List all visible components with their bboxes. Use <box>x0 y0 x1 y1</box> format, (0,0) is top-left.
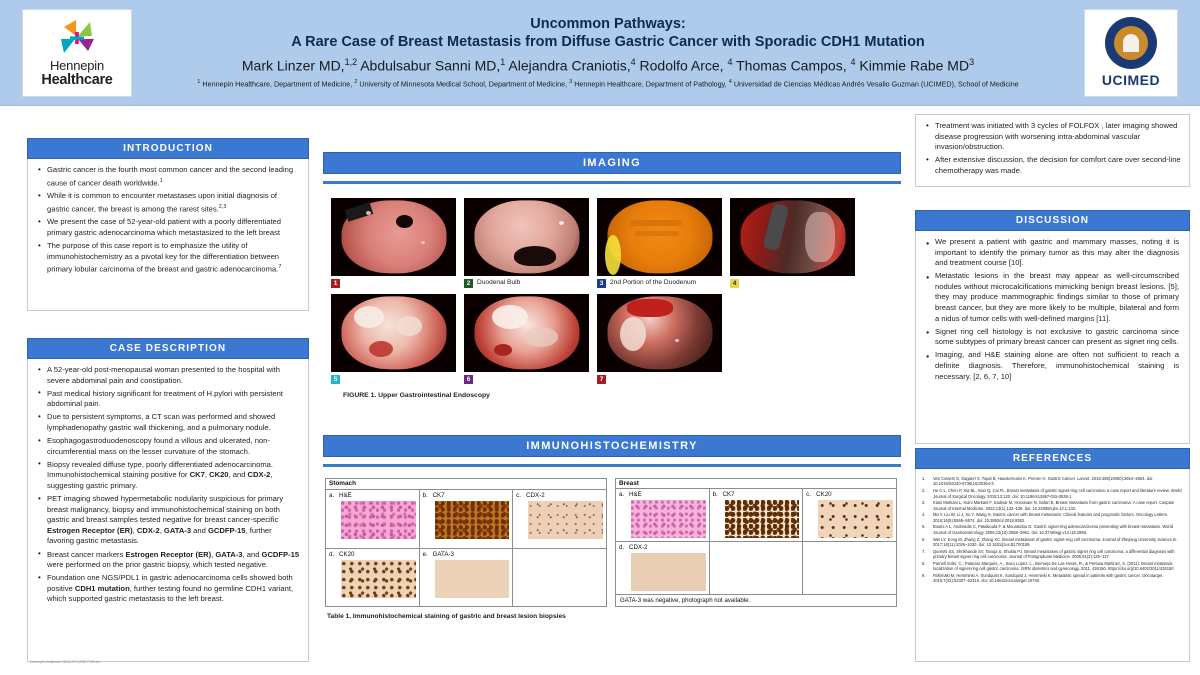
list-item: Metastatic lesions in the breast may app… <box>924 271 1181 324</box>
breast-header: Breast <box>616 479 897 489</box>
table-row: GATA-3 was negative, photograph not avai… <box>616 595 897 607</box>
discussion-panel: DISCUSSION We present a patient with gas… <box>915 210 1190 444</box>
list-item: PET imaging showed hypermetabolic nodula… <box>36 494 300 547</box>
ihc-title: IMMUNOHISTOCHEMISTRY <box>323 435 901 457</box>
panel-number-badge: 7 <box>597 375 606 384</box>
endoscopy-image-2 <box>464 198 589 276</box>
ihc-cell-stomach-empty <box>513 548 607 607</box>
author-list: Mark Linzer MD,1,2 Abdulsabur Sanni MD,1… <box>142 52 1074 76</box>
list-item: A 52-year-old post-menopausal woman pres… <box>36 365 300 386</box>
list-item: The purpose of this case report is to em… <box>36 241 300 275</box>
breast-ihc-table: Breast a.H&E b.CK7 c.CK20 <box>615 478 897 607</box>
list-item: Esophagogastroduodenoscopy found a villo… <box>36 436 300 457</box>
list-item: Qureshi SS, Shrikhande SV, Tanuja S, Shu… <box>920 549 1183 560</box>
ihc-tables: Stomach a.H&E b.CK7 c.CDX-2 <box>325 478 899 607</box>
ihc-cell-breast-ck20: c.CK20 <box>803 489 897 542</box>
affiliations: 1 Hennepin Healthcare, Department of Med… <box>142 78 1074 89</box>
imaging-title: IMAGING <box>323 152 901 174</box>
micrograph-he <box>631 500 706 538</box>
panel-number-badge: 5 <box>331 375 340 384</box>
endoscopy-caption-3: 3 2nd Portion of the Duodenum <box>597 279 730 288</box>
list-item: Due to persistent symptoms, a CT scan wa… <box>36 412 300 433</box>
references-title: REFERENCES <box>915 448 1190 469</box>
list-item: Ma Y, Liu W, Li J, Xu Y, Wang H. Gastric… <box>920 512 1183 523</box>
ihc-cell-stomach-cdx2: c.CDX-2 <box>513 490 607 548</box>
list-item: While it is common to encounter metastas… <box>36 191 300 215</box>
table-row: a.H&E b.CK7 c.CDX-2 <box>326 490 607 548</box>
ucimed-seal-icon <box>1105 17 1157 69</box>
list-item: We present the case of 52-year-old patie… <box>36 217 300 238</box>
panel-number-badge: 2 <box>464 279 473 288</box>
treatment-body: Treatment was initiated with 3 cycles of… <box>915 114 1190 187</box>
micrograph-cdx2 <box>631 553 706 591</box>
introduction-body: Gastric cancer is the fourth most common… <box>27 159 309 311</box>
panel-number-badge: 3 <box>597 279 606 288</box>
poster-header: Hennepin Healthcare Uncommon Pathways: A… <box>0 0 1200 106</box>
micrograph-he <box>341 501 416 539</box>
list-item: Kiani Markani L, Kiani Markani F, Kadiva… <box>920 500 1183 511</box>
poster-title-block: Uncommon Pathways: A Rare Case of Breast… <box>132 16 1084 90</box>
introduction-panel: INTRODUCTION Gastric cancer is the fourt… <box>27 138 309 311</box>
endoscopy-image-6 <box>464 294 589 372</box>
micrograph-cdx2 <box>528 501 603 539</box>
micrograph-ck20 <box>341 560 416 598</box>
endoscopy-image-7 <box>597 294 722 372</box>
endoscopy-caption-1: 1 <box>331 279 464 288</box>
endoscopy-row-1: 1 2 Duodenal Bulb <box>331 198 893 288</box>
ihc-content: Stomach a.H&E b.CK7 c.CDX-2 <box>323 467 901 620</box>
micrograph-ck7 <box>435 501 510 539</box>
references-body: Van Cutsem E, Sagaert X, Topal B, Hauste… <box>915 469 1190 662</box>
ihc-cell-breast-he: a.H&E <box>616 489 710 542</box>
case-description-panel: CASE DESCRIPTION A 52-year-old post-meno… <box>27 338 309 662</box>
table-1-caption: Table 1. Immunohistochemical staining of… <box>327 613 899 620</box>
ucimed-label: UCIMED <box>1102 72 1160 88</box>
table-row: Breast <box>616 479 897 489</box>
endoscopy-caption-4: 4 <box>730 279 863 288</box>
list-item: We present a patient with gastric and ma… <box>924 237 1181 269</box>
poster-footnote: Hennepin Healthcare HEALTH CARE FOR ALL <box>30 660 101 665</box>
micrograph-ck20 <box>818 500 893 538</box>
endoscopy-row-2: 5 6 <box>331 294 893 384</box>
list-item: Signet ring cell histology is not exclus… <box>924 327 1181 348</box>
logo-line-1: Hennepin <box>50 59 104 72</box>
breast-table-note: GATA-3 was negative, photograph not avai… <box>616 595 897 607</box>
references-list: Van Cutsem E, Sagaert X, Topal B, Hauste… <box>920 476 1183 584</box>
stomach-ihc-table: Stomach a.H&E b.CK7 c.CDX-2 <box>325 478 607 607</box>
micrograph-ck7 <box>725 500 800 538</box>
list-item: He C L, Chen P, Xia BL, Xiao Q, Cai FL. … <box>920 488 1183 499</box>
hennepin-healthcare-logo: Hennepin Healthcare <box>22 9 132 97</box>
introduction-title: INTRODUCTION <box>27 138 309 159</box>
discussion-title: DISCUSSION <box>915 210 1190 231</box>
endoscopy-image-5 <box>331 294 456 372</box>
table-row: d.CK20 e.GATA-3 <box>326 548 607 607</box>
ihc-cell-stomach-ck7: b.CK7 <box>419 490 513 548</box>
endoscopy-caption-6: 6 <box>464 375 597 384</box>
imaging-panel: IMAGING 1 <box>323 152 901 399</box>
panel-number-badge: 6 <box>464 375 473 384</box>
list-item: Foundation one NGS/PDL1 in gastric adeno… <box>36 573 300 605</box>
ihc-cell-breast-empty-1 <box>709 542 803 595</box>
list-item: Parnell Soler, C., Palacios Marqués, A.,… <box>920 561 1183 572</box>
immunohistochemistry-panel: IMMUNOHISTOCHEMISTRY Stomach a.H&E b.CK7 <box>323 435 901 620</box>
poster-title-line-2: A Rare Case of Breast Metastasis from Di… <box>142 33 1074 51</box>
case-description-title: CASE DESCRIPTION <box>27 338 309 359</box>
ihc-cell-breast-empty-2 <box>803 542 897 595</box>
ihc-cell-breast-cdx2: d.CDX-2 <box>616 542 710 595</box>
panel-label: Duodenal Bulb <box>477 279 520 287</box>
ihc-cell-stomach-he: a.H&E <box>326 490 420 548</box>
list-item: Treatment was initiated with 3 cycles of… <box>924 121 1181 153</box>
pinwheel-icon <box>54 18 100 58</box>
stomach-header: Stomach <box>326 479 607 490</box>
ihc-cell-stomach-gata3: e.GATA-3 <box>419 548 513 607</box>
panel-number-badge: 4 <box>730 279 739 288</box>
list-item: Biopsy revealed diffuse type, poorly dif… <box>36 460 300 492</box>
treatment-bullets: Treatment was initiated with 3 cycles of… <box>924 121 1181 176</box>
list-item: Breast cancer markers Estrogen Receptor … <box>36 550 300 571</box>
list-item: Gastric cancer is the fourth most common… <box>36 165 300 189</box>
ihc-cell-stomach-ck20: d.CK20 <box>326 548 420 607</box>
endoscopy-image-1 <box>331 198 456 276</box>
micrograph-gata3 <box>435 560 510 598</box>
logo-line-2: Healthcare <box>41 72 112 88</box>
case-description-bullets: A 52-year-old post-menopausal woman pres… <box>36 365 300 605</box>
ucimed-logo: UCIMED <box>1084 9 1178 97</box>
panel-label: 2nd Portion of the Duodenum <box>610 279 696 287</box>
endoscopy-caption-2: 2 Duodenal Bulb <box>464 279 597 288</box>
panel-number-badge: 1 <box>331 279 340 288</box>
endoscopy-image-4 <box>730 198 855 276</box>
introduction-bullets: Gastric cancer is the fourth most common… <box>36 165 300 275</box>
poster-title-line-1: Uncommon Pathways: <box>142 16 1074 33</box>
list-item: Imaging, and H&E staining alone are ofte… <box>924 350 1181 382</box>
discussion-body: We present a patient with gastric and ma… <box>915 231 1190 444</box>
endoscopy-caption-7: 7 <box>597 375 730 384</box>
endoscopy-caption-5: 5 <box>331 375 464 384</box>
treatment-panel: Treatment was initiated with 3 cycles of… <box>915 114 1190 187</box>
figure-1-caption: FIGURE 1. Upper Gastrointestinal Endosco… <box>343 392 893 399</box>
list-item: Boutis A L, Andreadis C, Patakiouta F, &… <box>920 524 1183 535</box>
list-item: Wei LY, Kong M, Zhang Z, Zhang XC. Breas… <box>920 537 1183 548</box>
endoscopy-image-3 <box>597 198 722 276</box>
case-description-body: A 52-year-old post-menopausal woman pres… <box>27 359 309 662</box>
ihc-cell-breast-ck7: b.CK7 <box>709 489 803 542</box>
table-row: d.CDX-2 <box>616 542 897 595</box>
list-item: Riihimäki M, Hemminki A, Sundquist K, Su… <box>920 573 1183 584</box>
list-item: After extensive discussion, the decision… <box>924 155 1181 176</box>
discussion-bullets: We present a patient with gastric and ma… <box>924 237 1181 382</box>
list-item: Van Cutsem E, Sagaert X, Topal B, Hauste… <box>920 476 1183 487</box>
references-panel: REFERENCES Van Cutsem E, Sagaert X, Topa… <box>915 448 1190 662</box>
imaging-content: 1 2 Duodenal Bulb <box>323 184 901 399</box>
table-row: Stomach <box>326 479 607 490</box>
list-item: Past medical history significant for tre… <box>36 389 300 410</box>
table-row: a.H&E b.CK7 c.CK20 <box>616 489 897 542</box>
